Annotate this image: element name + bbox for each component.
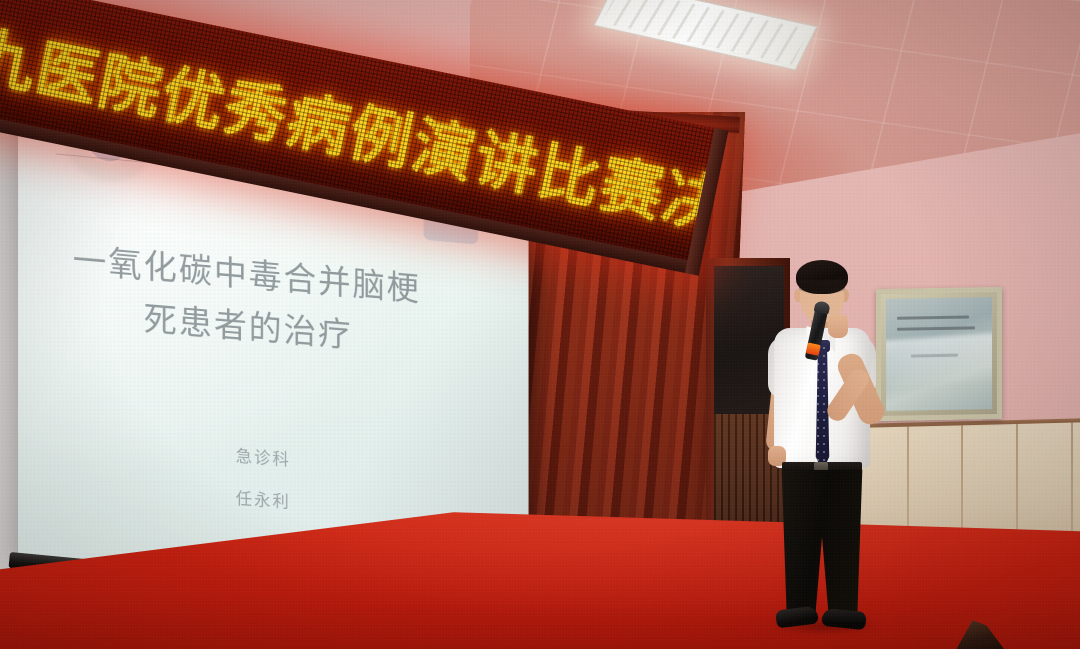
- wall-mounted-framed-notice: [876, 287, 1002, 421]
- microphone-color-band: [806, 342, 821, 355]
- speaker-hair: [796, 260, 848, 294]
- auditorium-photo-scene: 医 邢台市第九医院/巨鹿县医院 一氧化碳中毒合并脑梗 死患者的治疗 急诊科 任永…: [0, 0, 1080, 649]
- speaker-trousers: [780, 470, 864, 616]
- plaque-glass: [886, 297, 992, 411]
- speaker-right-hand: [828, 314, 848, 338]
- plaque-glass-reflection: [886, 333, 992, 389]
- speaker-figure: [752, 256, 892, 628]
- slide-title: 一氧化碳中毒合并脑梗 死患者的治疗: [18, 230, 473, 371]
